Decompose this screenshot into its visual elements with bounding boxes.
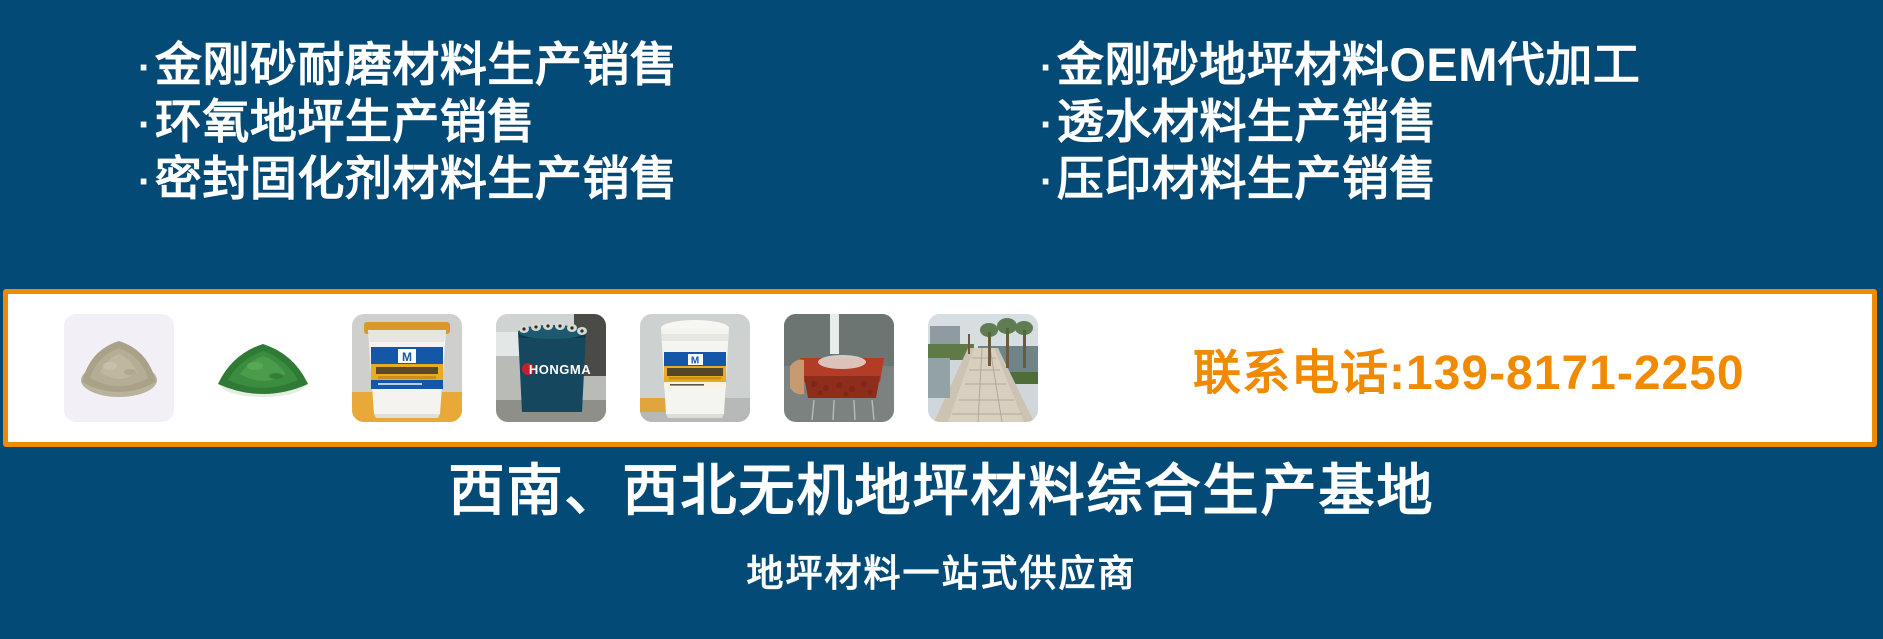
feature-item: · 透水材料生产销售	[1040, 95, 1640, 152]
feature-item: · 金刚砂地坪材料OEM代加工	[1040, 38, 1640, 95]
bullet-icon: ·	[138, 98, 152, 152]
thumbnail-row: M	[8, 294, 1038, 442]
page-subtitle: 地坪材料一站式供应商	[0, 552, 1883, 596]
promo-banner: · 金刚砂耐磨材料生产销售 · 环氧地坪生产销售 · 密封固化剂材料生产销售 ·…	[0, 0, 1883, 639]
feature-label: 透水材料生产销售	[1057, 95, 1437, 149]
green-abrasive-powder-photo	[208, 314, 318, 422]
gray-abrasive-powder-photo	[64, 314, 174, 422]
bullet-icon: ·	[1040, 155, 1054, 209]
epoxy-coating-bucket-photo: M	[640, 314, 750, 422]
bullet-icon: ·	[1040, 98, 1054, 152]
feature-item: · 金刚砂耐磨材料生产销售	[138, 38, 677, 95]
svg-text:M: M	[402, 350, 412, 364]
feature-list-right: · 金刚砂地坪材料OEM代加工 · 透水材料生产销售 · 压印材料生产销售	[1040, 38, 1640, 209]
feature-label: 金刚砂地坪材料OEM代加工	[1057, 38, 1641, 92]
contact-phone[interactable]: 联系电话:139-8171-2250	[1193, 333, 1745, 403]
feature-item: · 密封固化剂材料生产销售	[138, 152, 677, 209]
feature-lists: · 金刚砂耐磨材料生产销售 · 环氧地坪生产销售 · 密封固化剂材料生产销售 ·…	[0, 34, 1883, 239]
feature-item: · 压印材料生产销售	[1040, 152, 1640, 209]
product-photo-strip: M	[3, 289, 1877, 447]
feature-label: 环氧地坪生产销售	[155, 95, 535, 149]
hongma-drum-photo: HONGMA	[496, 314, 606, 422]
feature-label: 金刚砂耐磨材料生产销售	[155, 38, 678, 92]
permeable-concrete-sample-photo	[784, 314, 894, 422]
sealer-bucket-photo: M	[352, 314, 462, 422]
svg-text:M: M	[691, 356, 699, 367]
svg-text:HONGMA: HONGMA	[529, 362, 591, 377]
bullet-icon: ·	[138, 41, 152, 95]
feature-label: 密封固化剂材料生产销售	[155, 152, 678, 206]
bullet-icon: ·	[1040, 41, 1054, 95]
feature-list-left: · 金刚砂耐磨材料生产销售 · 环氧地坪生产销售 · 密封固化剂材料生产销售	[138, 38, 677, 209]
stamped-concrete-path-photo	[928, 314, 1038, 422]
bullet-icon: ·	[138, 155, 152, 209]
page-title: 西南、西北无机地坪材料综合生产基地	[0, 458, 1883, 524]
feature-item: · 环氧地坪生产销售	[138, 95, 677, 152]
feature-label: 压印材料生产销售	[1057, 152, 1437, 206]
